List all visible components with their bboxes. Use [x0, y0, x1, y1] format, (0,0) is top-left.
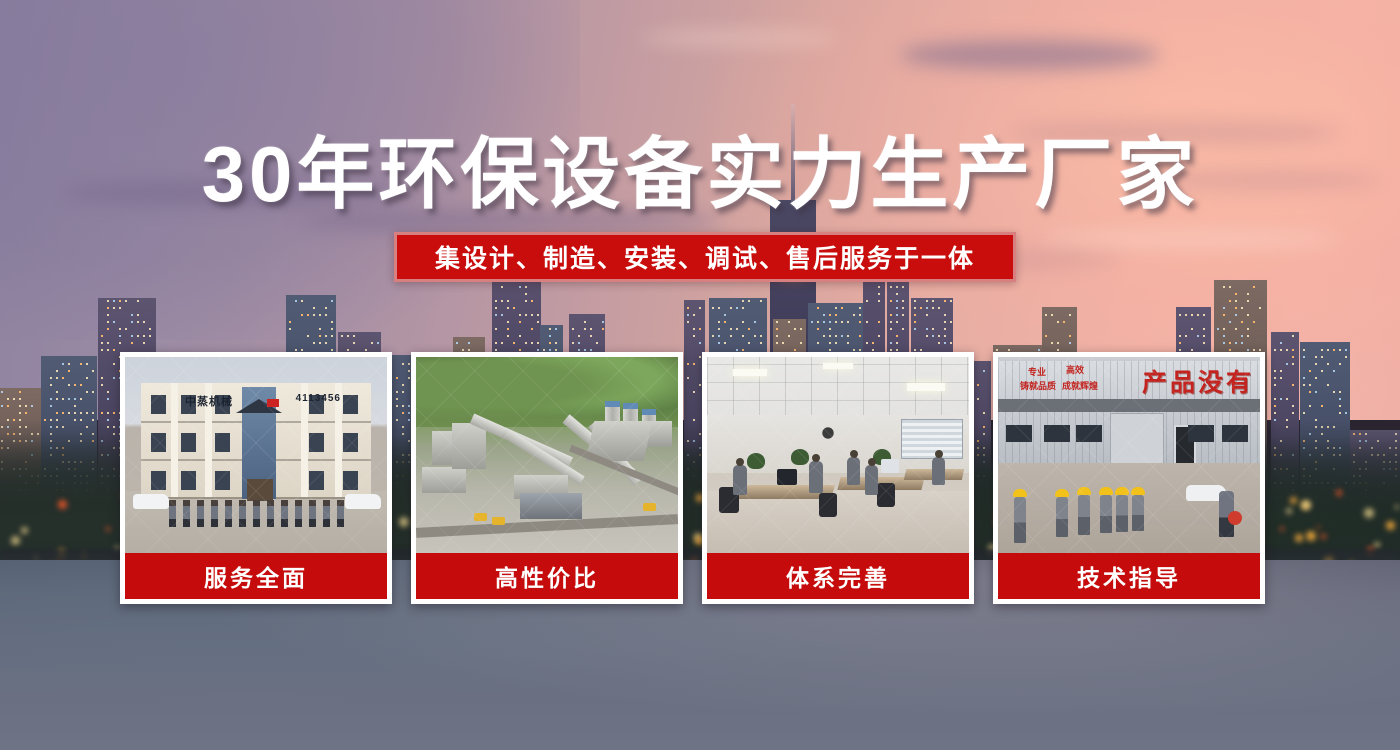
lit-window [107, 300, 109, 302]
lit-window [718, 342, 720, 344]
person [932, 457, 945, 485]
lit-window [1303, 412, 1305, 414]
cloud [900, 40, 1160, 70]
lit-window [788, 335, 790, 337]
lit-window [712, 335, 714, 337]
lit-window [914, 321, 916, 323]
ceiling-light [907, 383, 945, 391]
lit-window [693, 328, 695, 330]
parked-car [345, 494, 381, 509]
lit-window [50, 384, 52, 386]
lit-window [101, 377, 103, 379]
lit-window [507, 328, 509, 330]
potted-plant [747, 453, 765, 469]
lit-window [319, 342, 321, 344]
lit-window [7, 398, 9, 400]
lit-window [896, 307, 898, 309]
lit-window [555, 342, 557, 344]
lit-window [101, 349, 103, 351]
lit-window [687, 321, 689, 323]
lit-window [859, 349, 861, 351]
lit-window [1247, 335, 1249, 337]
lit-window [125, 300, 127, 302]
lit-window [776, 342, 778, 344]
lit-window [113, 377, 115, 379]
lit-window [519, 314, 521, 316]
building-entrance [247, 479, 273, 501]
lit-window [1057, 349, 1059, 351]
bank-light [1395, 505, 1399, 509]
building-sign-text: 中蒸机械 [185, 393, 233, 409]
lit-window [107, 391, 109, 393]
lit-window [878, 321, 880, 323]
lit-window [578, 349, 580, 351]
lit-window [1292, 405, 1294, 407]
lit-window [1339, 405, 1341, 407]
lit-window [811, 321, 813, 323]
lit-window [62, 363, 64, 365]
lit-window [25, 405, 27, 407]
lit-window [932, 300, 934, 302]
lit-window [718, 307, 720, 309]
lit-window [1333, 391, 1335, 393]
lit-window [1038, 349, 1040, 351]
lit-window [920, 349, 922, 351]
feature-card[interactable]: 体系完善 [702, 352, 974, 604]
lit-window [853, 314, 855, 316]
company-office-building-photo: 中蒸机械 4113456 [125, 357, 387, 553]
lit-window [92, 391, 94, 393]
lit-window [107, 328, 109, 330]
lit-window [724, 314, 726, 316]
lit-window [519, 321, 521, 323]
lit-window [1292, 356, 1294, 358]
lit-window [1069, 342, 1071, 344]
lit-window [501, 286, 503, 288]
bank-light [1364, 508, 1374, 518]
lit-window [890, 349, 892, 351]
bank-light [11, 536, 20, 545]
aerial-industrial-plant-photo [416, 357, 678, 553]
lit-window [920, 307, 922, 309]
lit-window [817, 328, 819, 330]
lit-window [313, 307, 315, 309]
lit-window [896, 286, 898, 288]
lit-window [1197, 314, 1199, 316]
lit-window [74, 405, 76, 407]
lit-window [1179, 342, 1181, 344]
factory-slogan-large: 产品没有 [1142, 363, 1254, 399]
lit-window [113, 300, 115, 302]
lit-window [56, 370, 58, 372]
lit-window [289, 321, 291, 323]
lit-window [926, 307, 928, 309]
lit-window [1235, 293, 1237, 295]
lit-window [800, 342, 802, 344]
lit-window [950, 300, 952, 302]
lit-window [1303, 356, 1305, 358]
lit-window [693, 314, 695, 316]
lit-window [507, 321, 509, 323]
office-interior-photo [707, 357, 969, 553]
lit-window [525, 314, 527, 316]
lit-window [68, 384, 70, 386]
lit-window [847, 335, 849, 337]
lit-window [944, 300, 946, 302]
lit-window [1203, 328, 1205, 330]
lit-window [890, 321, 892, 323]
lit-window [113, 363, 115, 365]
lit-window [817, 342, 819, 344]
lit-window [823, 321, 825, 323]
lit-window [137, 335, 139, 337]
bank-light [1306, 531, 1316, 541]
lit-window [932, 328, 934, 330]
lit-window [501, 342, 503, 344]
lit-window [829, 335, 831, 337]
lit-window [1327, 384, 1329, 386]
lit-window [74, 398, 76, 400]
lit-window [137, 300, 139, 302]
lit-window [80, 363, 82, 365]
parked-car [133, 494, 169, 509]
lit-window [590, 328, 592, 330]
lit-window [896, 342, 898, 344]
lit-window [549, 342, 551, 344]
lit-window [1197, 335, 1199, 337]
lit-window [782, 342, 784, 344]
lit-window [80, 384, 82, 386]
lit-window [1241, 307, 1243, 309]
lit-window [1286, 349, 1288, 351]
lit-window [584, 349, 586, 351]
lit-window [944, 314, 946, 316]
lit-window [1339, 349, 1341, 351]
lit-window [353, 335, 355, 337]
lit-window [113, 412, 115, 414]
lit-window [878, 300, 880, 302]
lit-window [1217, 328, 1219, 330]
lit-window [1057, 321, 1059, 323]
lit-window [794, 328, 796, 330]
lit-window [859, 314, 861, 316]
bank-light [1386, 521, 1395, 530]
lit-window [1051, 342, 1053, 344]
lit-window [519, 286, 521, 288]
card-caption-text: 体系完善 [786, 559, 890, 593]
lit-window [1309, 391, 1311, 393]
lit-window [1223, 335, 1225, 337]
card-caption: 体系完善 [707, 553, 969, 599]
lit-window [1247, 293, 1249, 295]
card-caption: 服务全面 [125, 553, 387, 599]
lit-window [525, 286, 527, 288]
lit-window [113, 321, 115, 323]
lit-window [319, 328, 321, 330]
monitor [881, 459, 899, 473]
lit-window [859, 321, 861, 323]
window-band [998, 399, 1260, 412]
lit-window [926, 328, 928, 330]
lit-window [1286, 363, 1288, 365]
plant-building [422, 467, 466, 493]
subtitle-banner: 集设计、制造、安装、调试、售后服务于一体 [394, 232, 1016, 282]
lit-window [736, 349, 738, 351]
lit-window [107, 412, 109, 414]
lit-window [319, 335, 321, 337]
lit-window [1191, 314, 1193, 316]
lit-window [914, 307, 916, 309]
lit-window [1345, 412, 1347, 414]
lit-window [950, 321, 952, 323]
lit-window [1241, 335, 1243, 337]
lit-window [1235, 300, 1237, 302]
lit-window [1309, 405, 1311, 407]
lit-window [537, 342, 539, 344]
lit-window [86, 363, 88, 365]
lit-window [590, 349, 592, 351]
lit-window [1303, 377, 1305, 379]
excavator [474, 513, 487, 521]
lit-window [817, 307, 819, 309]
lit-window [68, 412, 70, 414]
lit-window [914, 314, 916, 316]
lit-window [1315, 363, 1317, 365]
bank-light [1280, 527, 1284, 531]
person [865, 465, 878, 495]
lit-window [1241, 342, 1243, 344]
lit-window [86, 377, 88, 379]
lit-window [1045, 335, 1047, 337]
lit-window [325, 342, 327, 344]
lit-window [841, 335, 843, 337]
lit-window [537, 349, 539, 351]
lit-window [699, 342, 701, 344]
lit-window [866, 300, 868, 302]
lit-window [1069, 314, 1071, 316]
feature-card[interactable]: 产品没有 专业 高效 铸就品质 成就辉煌 [993, 352, 1265, 604]
lit-window [1321, 405, 1323, 407]
ceiling-light [823, 363, 853, 369]
lit-window [890, 286, 892, 288]
lit-window [1008, 349, 1010, 351]
lit-window [1229, 349, 1231, 351]
lit-window [1259, 307, 1261, 309]
lit-window [926, 314, 928, 316]
lit-window [841, 321, 843, 323]
lit-window [1051, 314, 1053, 316]
lit-window [835, 342, 837, 344]
lit-window [295, 300, 297, 302]
factory-building: 产品没有 专业 高效 铸就品质 成就辉煌 [998, 361, 1260, 465]
lit-window [1345, 349, 1347, 351]
lit-window [1253, 349, 1255, 351]
lit-window [462, 349, 464, 351]
lit-window [56, 377, 58, 379]
lit-window [25, 412, 27, 414]
lit-window [944, 328, 946, 330]
lit-window [742, 349, 744, 351]
lit-window [1303, 349, 1305, 351]
lit-window [1045, 314, 1047, 316]
wall-logo-icon [811, 421, 845, 451]
lit-window [730, 335, 732, 337]
lit-window [62, 412, 64, 414]
bank-light [1286, 508, 1292, 514]
card-caption-text: 服务全面 [204, 559, 308, 593]
lit-window [829, 321, 831, 323]
lit-window [742, 307, 744, 309]
lit-window [1241, 321, 1243, 323]
lit-window [914, 300, 916, 302]
lit-window [1259, 349, 1261, 351]
lit-window [1247, 300, 1249, 302]
lit-window [794, 349, 796, 351]
lit-window [1229, 342, 1231, 344]
lit-window [543, 349, 545, 351]
lit-window [687, 307, 689, 309]
lit-window [101, 384, 103, 386]
lit-window [1247, 328, 1249, 330]
lit-window [938, 307, 940, 309]
lit-window [1229, 286, 1231, 288]
lit-window [1309, 384, 1311, 386]
lit-window [944, 335, 946, 337]
monitor [777, 469, 797, 485]
lit-window [519, 349, 521, 351]
lit-window [1333, 349, 1335, 351]
flag [267, 399, 279, 407]
ceiling-light [733, 369, 767, 376]
subtitle-text: 集设计、制造、安装、调试、售后服务于一体 [435, 239, 975, 275]
lit-window [878, 335, 880, 337]
lit-window [1253, 321, 1255, 323]
lit-window [1203, 335, 1205, 337]
lit-window [137, 314, 139, 316]
lit-window [13, 398, 15, 400]
lit-window [50, 377, 52, 379]
lit-window [902, 307, 904, 309]
factory-slogan-small: 专业 [1028, 365, 1046, 378]
lit-window [896, 300, 898, 302]
lit-window [718, 335, 720, 337]
lit-window [50, 398, 52, 400]
lit-window [301, 314, 303, 316]
lit-window [307, 335, 309, 337]
worker [1056, 497, 1068, 537]
worker [1078, 495, 1090, 535]
lit-window [1315, 377, 1317, 379]
chair [877, 483, 895, 507]
lit-window [748, 300, 750, 302]
lit-window [1253, 286, 1255, 288]
lit-window [331, 349, 333, 351]
lit-window [149, 328, 151, 330]
page-title: 30年环保设备实力生产厂家 [0, 133, 1400, 215]
lit-window [62, 398, 64, 400]
lit-window [718, 321, 720, 323]
lit-window [68, 398, 70, 400]
lit-window [101, 342, 103, 344]
lit-window [56, 398, 58, 400]
lit-window [699, 307, 701, 309]
lit-window [531, 314, 533, 316]
lit-window [19, 405, 21, 407]
factory-slogan-small: 铸就品质 [1020, 379, 1056, 392]
bank-light [1336, 490, 1342, 496]
lit-window [866, 342, 868, 344]
lit-window [331, 300, 333, 302]
chair [819, 493, 837, 517]
lit-window [31, 405, 33, 407]
lit-window [712, 307, 714, 309]
lit-window [1069, 335, 1071, 337]
lit-window [1339, 391, 1341, 393]
lit-window [331, 335, 333, 337]
lit-window [1247, 314, 1249, 316]
factory-slogan-small: 高效 [1066, 363, 1084, 376]
lit-window [501, 300, 503, 302]
lit-window [932, 335, 934, 337]
lit-window [519, 335, 521, 337]
lit-window [301, 349, 303, 351]
lit-window [847, 321, 849, 323]
lit-window [748, 342, 750, 344]
lit-window [829, 349, 831, 351]
lit-window [902, 328, 904, 330]
lit-window [829, 314, 831, 316]
bank-light [1374, 542, 1380, 548]
lit-window [890, 314, 892, 316]
lit-window [289, 328, 291, 330]
lit-window [742, 321, 744, 323]
lit-window [1303, 384, 1305, 386]
lit-window [872, 349, 874, 351]
lit-window [107, 314, 109, 316]
lit-window [1223, 328, 1225, 330]
feature-card[interactable]: 高性价比 [411, 352, 683, 604]
window-blinds [901, 419, 963, 459]
lit-window [950, 342, 952, 344]
lit-window [19, 391, 21, 393]
lit-window [944, 342, 946, 344]
lit-window [119, 342, 121, 344]
building-phone-text: 4113456 [296, 393, 341, 404]
lit-window [131, 335, 133, 337]
bank-light [1290, 497, 1297, 504]
lit-window [896, 314, 898, 316]
lit-window [817, 321, 819, 323]
lit-window [1223, 307, 1225, 309]
lit-window [896, 349, 898, 351]
lit-window [878, 286, 880, 288]
lit-window [107, 307, 109, 309]
lit-window [468, 342, 470, 344]
lit-window [896, 293, 898, 295]
lit-window [513, 307, 515, 309]
lit-window [602, 321, 604, 323]
office-floor [707, 491, 969, 553]
lit-window [295, 349, 297, 351]
bank-light [1321, 534, 1326, 539]
feature-card[interactable]: 中蒸机械 4113456 服务全面 [120, 352, 392, 604]
lit-window [859, 335, 861, 337]
lit-window [365, 349, 367, 351]
lit-window [56, 391, 58, 393]
lit-window [890, 342, 892, 344]
lit-window [578, 342, 580, 344]
lit-window [1185, 314, 1187, 316]
